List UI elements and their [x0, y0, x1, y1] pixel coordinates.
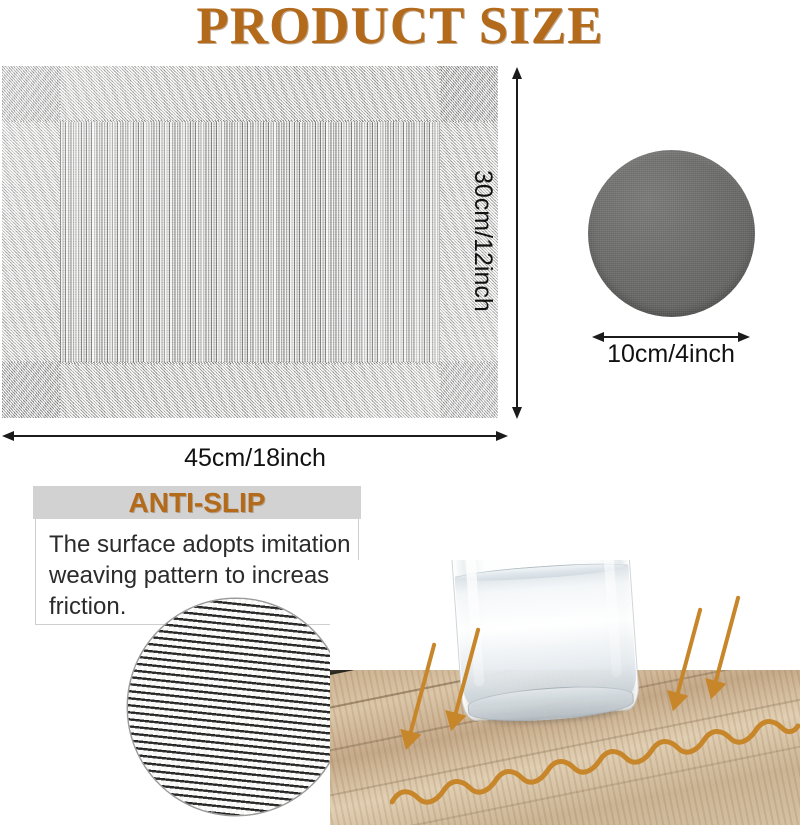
dimension-diameter-line: [602, 336, 740, 338]
placemat-inner-field: [60, 122, 440, 362]
dimension-diameter-label: 10cm/4inch: [578, 340, 764, 369]
placemat-band-top: [60, 66, 440, 120]
dimension-width-label: 45cm/18inch: [0, 444, 510, 473]
dimension-height-line: [516, 78, 518, 408]
placemat-band-bottom: [60, 364, 440, 418]
infographic-root: PRODUCT SIZE 45cm/18inch 30cm/12inch 10c…: [0, 0, 800, 825]
anti-slip-heading: ANTI-SLIP: [33, 486, 361, 519]
page-title: PRODUCT SIZE: [0, 0, 800, 56]
arrow-down-icon: [512, 407, 522, 419]
weave-texture-overlay: [128, 599, 344, 815]
weave-macro-circle: [128, 599, 344, 815]
arrow-right-icon: [496, 431, 508, 441]
arrow-left-icon: [2, 431, 14, 441]
dimension-height-label: 30cm/12inch: [468, 170, 497, 312]
friction-wave-line: [390, 690, 800, 810]
coaster-image: [588, 150, 755, 317]
placemat-band-left: [2, 122, 60, 362]
dimension-width-line: [12, 435, 498, 437]
placemat-image: [2, 66, 498, 418]
arrow-up-icon: [512, 67, 522, 79]
